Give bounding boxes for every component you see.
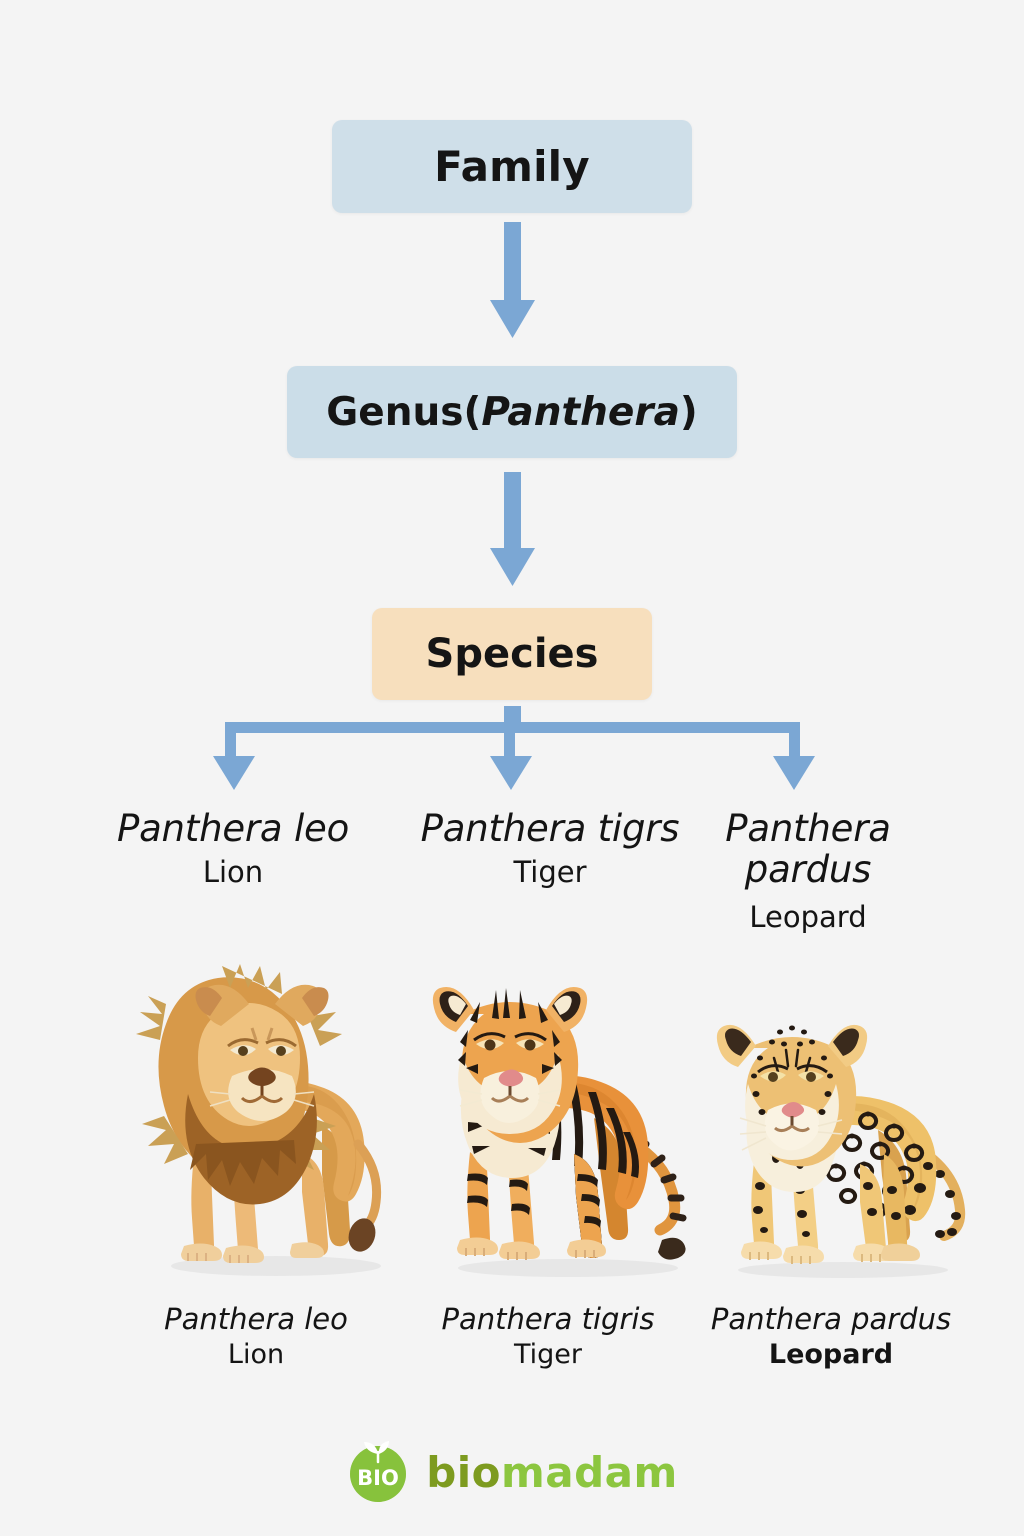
wordmark-bio: bio [426, 1448, 501, 1497]
leopard-illustration [688, 1018, 988, 1280]
figure-caption-tiger: Panthera tigris Tiger [418, 1303, 678, 1371]
species-label-leopard: Panthera pardus Leopard [712, 808, 904, 933]
caption-scientific-name: Panthera leo [125, 1303, 387, 1336]
genus-open-paren: ( [463, 390, 481, 435]
rank-box-species: Species [372, 608, 652, 700]
species-common-name: Lion [108, 856, 358, 888]
arrow-family-to-genus [490, 222, 535, 338]
tiger-illustration [408, 968, 708, 1278]
lion-illustration [126, 948, 406, 1278]
arrow-species-branch [213, 706, 815, 790]
caption-common-name: Lion [125, 1340, 387, 1371]
species-scientific-name: Panthera tigrs [400, 808, 700, 849]
rank-label-genus: Genus [326, 390, 463, 435]
bio-leaf-circle-icon: BIO [346, 1440, 410, 1504]
caption-common-name: Tiger [418, 1340, 678, 1371]
bio-mark-text: BIO [357, 1466, 399, 1490]
species-scientific-name: Panthera pardus [712, 808, 904, 891]
caption-scientific-name: Panthera pardus [688, 1303, 974, 1336]
species-label-tiger: Panthera tigrs Tiger [400, 808, 700, 889]
caption-common-name: Leopard [688, 1340, 974, 1371]
rank-label-species: Species [426, 631, 599, 677]
genus-close-paren: ) [680, 390, 698, 435]
species-label-lion: Panthera leo Lion [108, 808, 358, 889]
rank-label-family: Family [434, 142, 590, 191]
species-common-name: Tiger [400, 856, 700, 888]
arrow-genus-to-species [490, 472, 535, 586]
diagram-canvas: Family Genus (Panthera) Species Panthera… [0, 0, 1024, 1536]
rank-box-genus: Genus (Panthera) [287, 366, 737, 458]
figure-caption-lion: Panthera leo Lion [125, 1303, 387, 1371]
species-common-name: Leopard [712, 901, 904, 933]
figure-caption-leopard: Panthera pardus Leopard [688, 1303, 974, 1371]
biomadam-wordmark: biomadam [426, 1448, 678, 1497]
caption-scientific-name: Panthera tigris [418, 1303, 678, 1336]
species-scientific-name: Panthera leo [108, 808, 358, 849]
biomadam-logo[interactable]: BIO biomadam [0, 1440, 1024, 1504]
wordmark-madam: madam [501, 1448, 678, 1497]
rank-box-family: Family [332, 120, 692, 213]
genus-name: Panthera [481, 390, 680, 435]
